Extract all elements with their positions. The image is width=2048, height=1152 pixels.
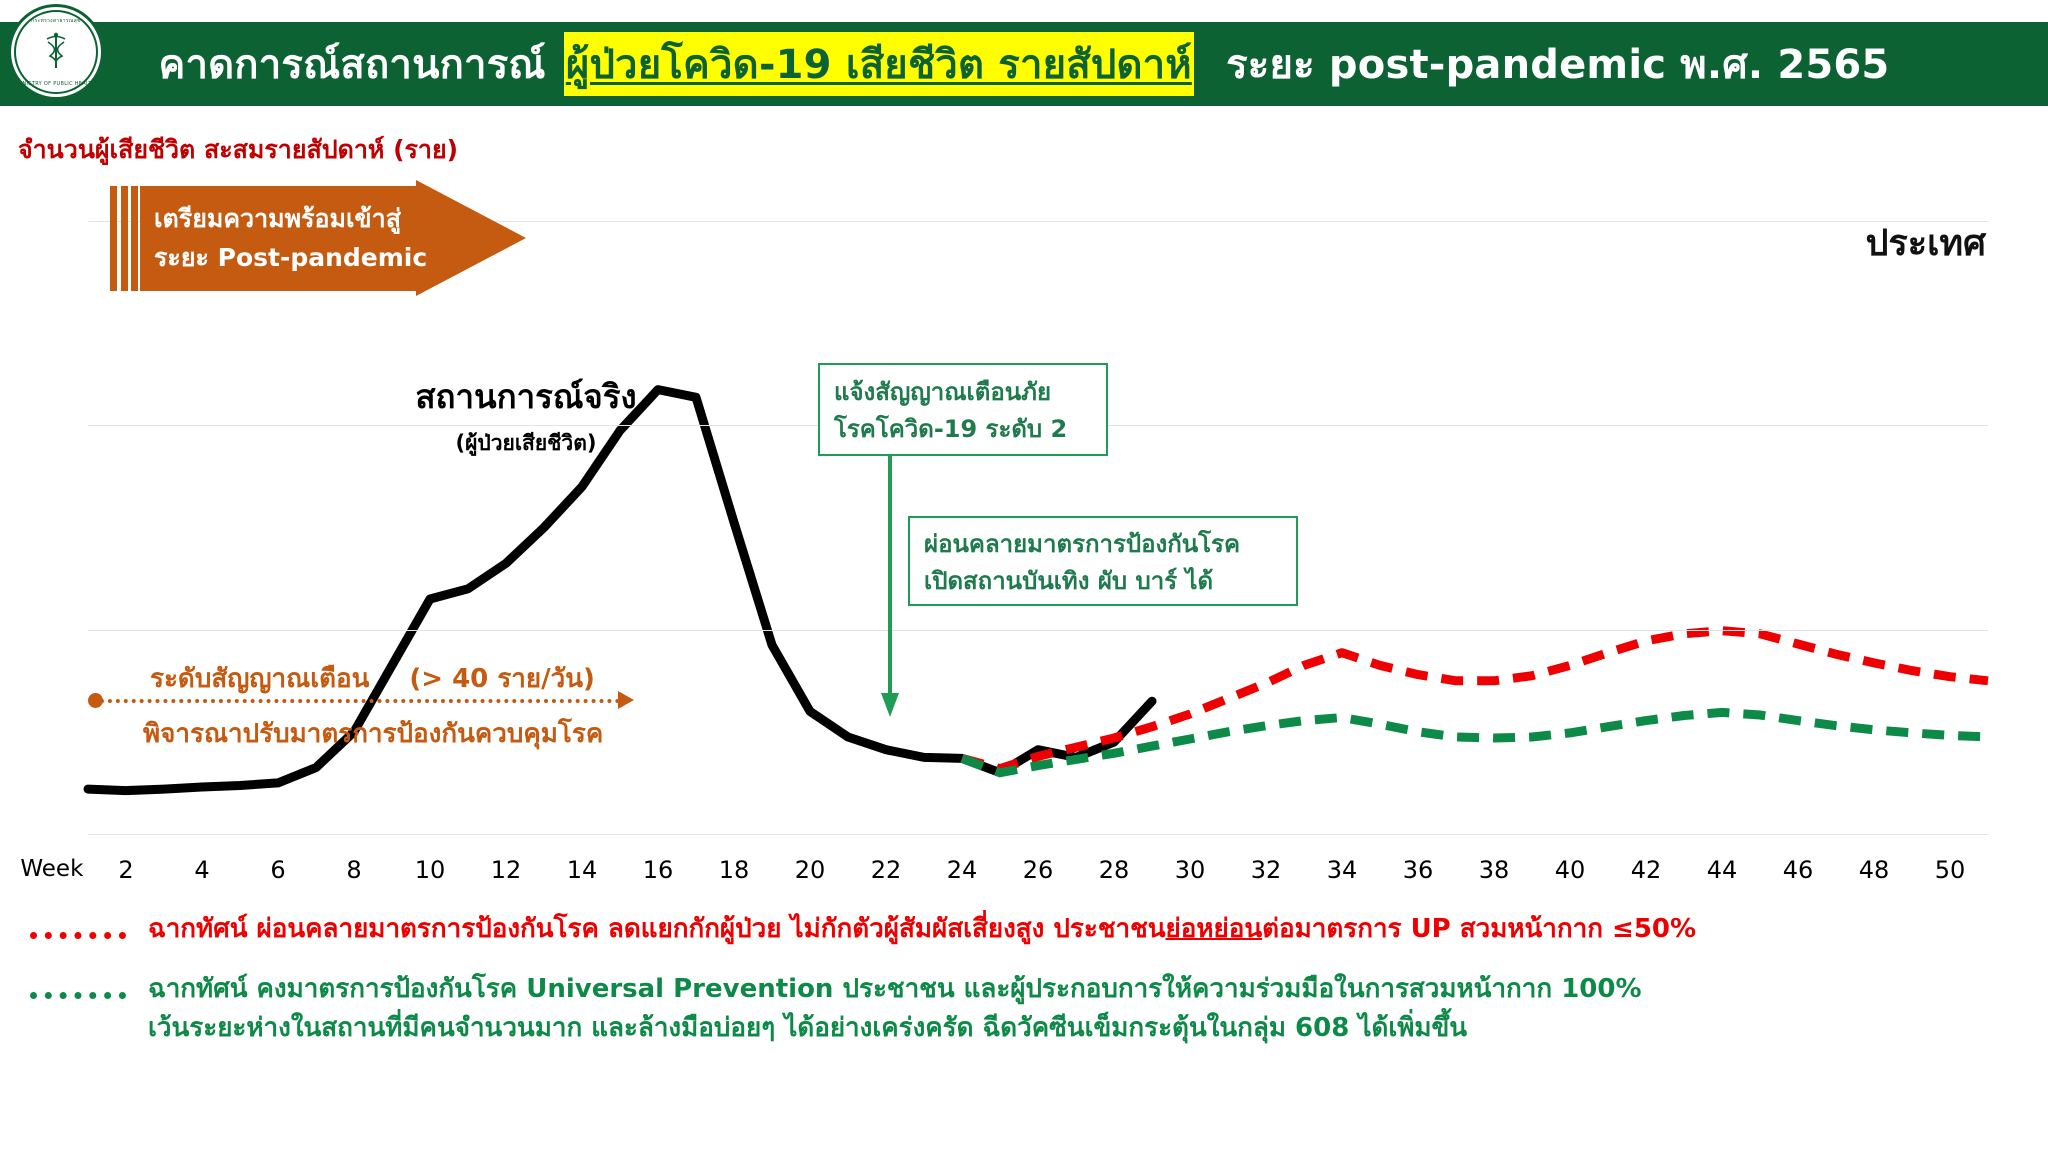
threshold-label-top: ระดับสัญญาณเตือน(> 40 ราย/วัน): [150, 658, 595, 699]
x-axis-tick-label: 38: [1479, 856, 1510, 884]
x-axis-tick-label: 14: [567, 856, 598, 884]
x-axis-tick-label: 36: [1403, 856, 1434, 884]
x-axis-week-label: Week: [20, 856, 83, 882]
caduceus-icon: [34, 30, 78, 74]
arrow-banner-bars: [110, 186, 136, 291]
x-axis-tick-label: 28: [1099, 856, 1130, 884]
actual-situation-subtitle: (ผู้ป่วยเสียชีวิต): [386, 427, 666, 460]
actual-situation-title: สถานการณ์จริง: [386, 370, 666, 423]
title-highlight: ผู้ป่วยโควิด-19 เสียชีวิต รายสัปดาห์: [564, 32, 1194, 96]
x-axis-tick-label: 34: [1327, 856, 1358, 884]
slide-root: คาดการณ์สถานการณ์ ผู้ป่วยโควิด-19 เสียชี…: [0, 0, 2048, 1152]
x-axis-tick-label: 24: [947, 856, 978, 884]
page-title: คาดการณ์สถานการณ์ ผู้ป่วยโควิด-19 เสียชี…: [0, 22, 2048, 106]
title-part-two: ระยะ post-pandemic พ.ศ. 2565: [1198, 32, 1890, 96]
x-axis-tick-label: 2: [118, 856, 133, 884]
legend-swatch-red-dashed-icon: [30, 932, 126, 939]
legend-text-relaxed: ฉากทัศน์ ผ่อนคลายมาตรการป้องกันโรค ลดแยก…: [148, 910, 1696, 950]
moph-logo: กระทรวงสาธารณสุข MINISTRY OF PUBLIC HEAL…: [8, 4, 104, 100]
legend-item-maintained-scenario: ฉากทัศน์ คงมาตรการป้องกันโรค Universal P…: [30, 970, 2030, 1049]
relax-note-line-2: เปิดสถานบันเทิง ผับ บาร์ ได้: [924, 563, 1282, 600]
x-axis-tick-label: 32: [1251, 856, 1282, 884]
x-axis-tick-label: 50: [1935, 856, 1966, 884]
legend-relaxed-post: ต่อมาตรการ UP สวมหน้ากาก ≤50%: [1262, 914, 1696, 944]
legend-relaxed-pre: ฉากทัศน์ ผ่อนคลายมาตรการป้องกันโรค ลดแยก…: [148, 914, 1166, 944]
x-axis-tick-label: 12: [491, 856, 522, 884]
x-axis-tick-label: 10: [415, 856, 446, 884]
threshold-dotted-line: [100, 699, 620, 703]
chart-legend: ฉากทัศน์ ผ่อนคลายมาตรการป้องกันโรค ลดแยก…: [30, 910, 2030, 1069]
x-axis-tick-label: 46: [1783, 856, 1814, 884]
threshold-arrow-icon: [618, 691, 634, 709]
relax-note-line-1: ผ่อนคลายมาตรการป้องกันโรค: [924, 526, 1282, 563]
x-axis-tick-label: 16: [643, 856, 674, 884]
arrow-banner-text: เตรียมความพร้อมเข้าสู่ ระยะ Post-pandemi…: [154, 200, 454, 278]
x-axis-tick-label: 22: [871, 856, 902, 884]
moph-logo-top-text: กระทรวงสาธารณสุข: [16, 17, 96, 25]
relax-measures-note-box: ผ่อนคลายมาตรการป้องกันโรค เปิดสถานบันเทิ…: [908, 516, 1298, 606]
x-axis-tick-label: 30: [1175, 856, 1206, 884]
x-axis-tick-label: 8: [346, 856, 361, 884]
alert-note-line-2: โรคโควิด-19 ระดับ 2: [834, 411, 1092, 448]
note-connector-arrow: [880, 455, 940, 735]
y-axis-caption: จำนวนผู้เสียชีวิต สะสมรายสัปดาห์ (ราย): [18, 130, 458, 170]
x-axis-tick-label: 42: [1631, 856, 1662, 884]
x-axis-tick-label: 44: [1707, 856, 1738, 884]
x-axis-tick-label: 20: [795, 856, 826, 884]
alert-level-note-box: แจ้งสัญญาณเตือนภัย โรคโควิด-19 ระดับ 2: [818, 363, 1108, 456]
gridline: [88, 834, 1988, 835]
legend-item-relaxed-scenario: ฉากทัศน์ ผ่อนคลายมาตรการป้องกันโรค ลดแยก…: [30, 910, 2030, 950]
arrow-banner-line-2: ระยะ Post-pandemic: [154, 239, 454, 278]
x-axis-tick-label: 48: [1859, 856, 1890, 884]
title-part-one: คาดการณ์สถานการณ์: [159, 32, 560, 96]
post-pandemic-arrow-banner: เตรียมความพร้อมเข้าสู่ ระยะ Post-pandemi…: [110, 186, 530, 291]
threshold-label-main: ระดับสัญญาณเตือน: [150, 664, 369, 694]
x-axis-tick-label: 4: [194, 856, 209, 884]
actual-situation-label: สถานการณ์จริง (ผู้ป่วยเสียชีวิต): [386, 370, 666, 460]
gridline: [88, 630, 1988, 631]
moph-logo-ring: กระทรวงสาธารณสุข MINISTRY OF PUBLIC HEAL…: [14, 10, 98, 94]
arrow-banner-line-1: เตรียมความพร้อมเข้าสู่: [154, 200, 454, 239]
legend-relaxed-underlined: ย่อหย่อน: [1166, 914, 1263, 944]
alert-note-line-1: แจ้งสัญญาณเตือนภัย: [834, 374, 1092, 411]
legend-swatch-green-dashed-icon: [30, 992, 126, 999]
threshold-label-bottom: พิจารณาปรับมาตรการป้องกันควบคุมโรค: [143, 713, 603, 754]
legend-text-maintained: ฉากทัศน์ คงมาตรการป้องกันโรค Universal P…: [148, 970, 1642, 1049]
x-axis-tick-label: 40: [1555, 856, 1586, 884]
x-axis: Week246810121416182022242628303234363840…: [0, 856, 2048, 896]
moph-logo-bottom-text: MINISTRY OF PUBLIC HEALTH: [16, 81, 96, 87]
legend-maintained-line-1: ฉากทัศน์ คงมาตรการป้องกันโรค Universal P…: [148, 970, 1642, 1010]
x-axis-tick-label: 6: [270, 856, 285, 884]
legend-maintained-line-2: เว้นระยะห่างในสถานที่มีคนจำนวนมาก และล้า…: [148, 1009, 1642, 1049]
threshold-label-value: (> 40 ราย/วัน): [409, 664, 595, 694]
x-axis-tick-label: 18: [719, 856, 750, 884]
chart-series-line: [962, 631, 1988, 769]
x-axis-tick-label: 26: [1023, 856, 1054, 884]
